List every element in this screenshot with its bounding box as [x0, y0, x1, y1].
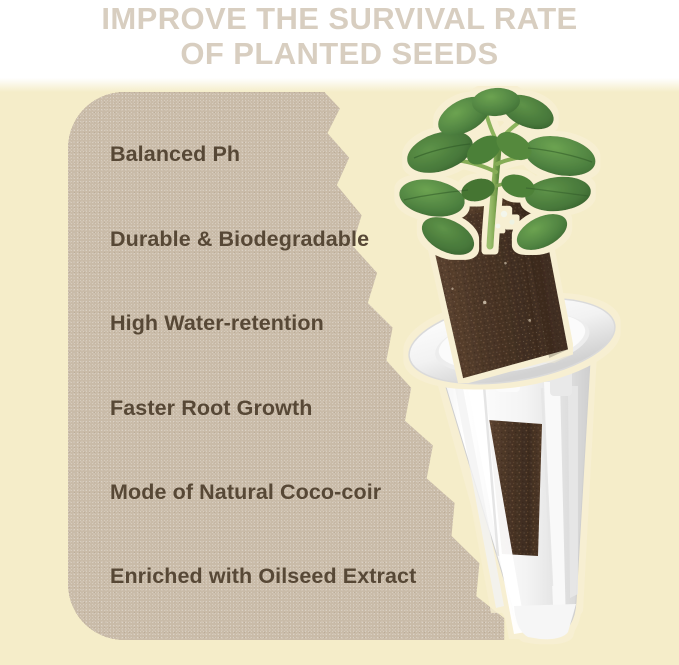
leaf [521, 130, 599, 182]
feature-item-oilseed-extract: Enriched with Oilseed Extract [110, 564, 416, 589]
header-band: IMPROVE THE SURVIVAL RATE OF PLANTED SEE… [0, 0, 679, 84]
grow-basket-assembly [436, 354, 590, 639]
page-title: IMPROVE THE SURVIVAL RATE OF PLANTED SEE… [0, 2, 679, 71]
feature-item-root-growth: Faster Root Growth [110, 396, 312, 421]
seed-pod-with-basil-seedling [392, 86, 679, 646]
feature-item-water-retention: High Water-retention [110, 311, 324, 336]
product-infographic: Balanced Ph Durable & Biodegradable High… [0, 0, 679, 665]
feature-item-balanced-ph: Balanced Ph [110, 142, 240, 167]
feature-item-coco-coir: Mode of Natural Coco-coir [110, 480, 381, 505]
feature-item-durable: Durable & Biodegradable [110, 227, 369, 252]
card-left-margin-mask [0, 92, 68, 640]
